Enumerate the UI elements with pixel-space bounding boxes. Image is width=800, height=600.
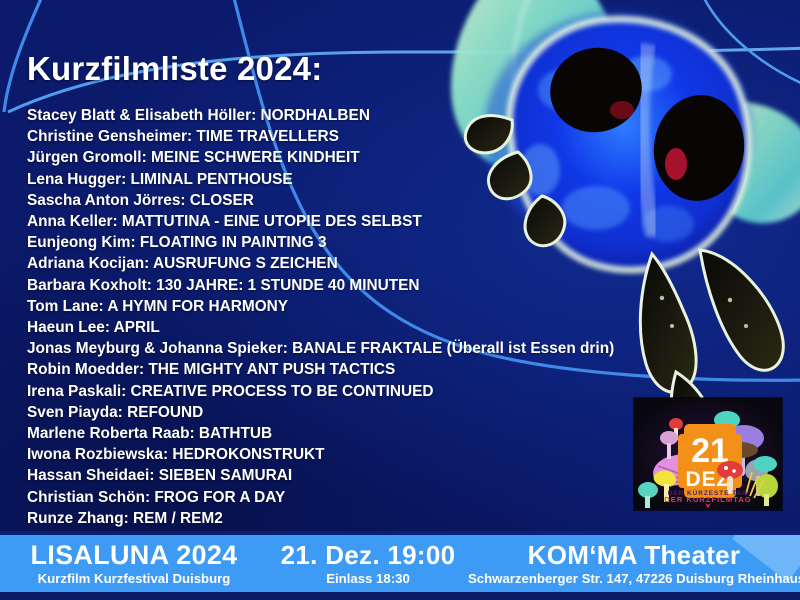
list-item: Jonas Meyburg & Johanna Spieker: BANALE … (27, 338, 727, 359)
festival-name: LISALUNA 2024 (0, 540, 268, 570)
list-item: Runze Zhang: REM / REM2 (27, 508, 727, 529)
list-item: Irena Paskali: CREATIVE PROCESS TO BE CO… (27, 381, 727, 402)
festival-subtitle: Kurzfilm Kurzfestival Duisburg (0, 570, 268, 587)
event-datetime: 21. Dez. 19:00 (268, 540, 468, 570)
footer-festival: LISALUNA 2024 Kurzfilm Kurzfestival Duis… (0, 535, 268, 587)
list-item: Haeun Lee: APRIL (27, 317, 727, 338)
footer-bar: LISALUNA 2024 Kurzfilm Kurzfestival Duis… (0, 535, 800, 592)
list-item: Anna Keller: MATTUTINA - EINE UTOPIE DES… (27, 211, 727, 232)
list-item: Robin Moedder: THE MIGHTY ANT PUSH TACTI… (27, 359, 727, 380)
mushroom-teal-right (753, 456, 777, 472)
list-item: Hassan Sheidaei: SIEBEN SAMURAI (27, 465, 727, 486)
list-item: Eunjeong Kim: FLOATING IN PAINTING 3 (27, 232, 727, 253)
kurzfilmtag-badge: 21 DEZ (634, 398, 782, 510)
badge-tagline-bottom: DER KURZFILMTAG (664, 495, 751, 504)
list-item: Adriana Kocijan: AUSRUFUNG S ZEICHEN (27, 253, 727, 274)
list-item: Iwona Rozbiewska: HEDROKONSTRUKT (27, 444, 727, 465)
event-doors: Einlass 18:30 (268, 570, 468, 587)
list-item: Sven Piayda: REFOUND (27, 402, 727, 423)
list-item: Lena Hugger: LIMINAL PENTHOUSE (27, 169, 727, 190)
footer-datetime: 21. Dez. 19:00 Einlass 18:30 (268, 535, 468, 587)
list-item: Sascha Anton Jörres: CLOSER (27, 190, 727, 211)
footer-base-strip (0, 592, 800, 600)
list-item: Tom Lane: A HYMN FOR HARMONY (27, 296, 727, 317)
list-item: Christian Schön: FROG FOR A DAY (27, 487, 727, 508)
page-title: Kurzfilmliste 2024: (27, 50, 322, 88)
list-item: Stacey Blatt & Elisabeth Höller: NORDHAL… (27, 105, 727, 126)
list-item: Jürgen Gromoll: MEINE SCHWERE KINDHEIT (27, 147, 727, 168)
film-list: Stacey Blatt & Elisabeth Höller: NORDHAL… (27, 105, 727, 529)
list-item: Marlene Roberta Raab: BATHTUB (27, 423, 727, 444)
footer-venue: KOM‘MA Theater Schwarzenberger Str. 147,… (468, 535, 800, 587)
venue-name: KOM‘MA Theater (468, 540, 800, 570)
list-item: Barbara Koxholt: 130 JAHRE: 1 STUNDE 40 … (27, 275, 727, 296)
venue-address: Schwarzenberger Str. 147, 47226 Duisburg… (468, 570, 800, 587)
list-item: Christine Gensheimer: TIME TRAVELLERS (27, 126, 727, 147)
poster: Kurzfilmliste 2024: Stacey Blatt & Elisa… (0, 0, 800, 600)
